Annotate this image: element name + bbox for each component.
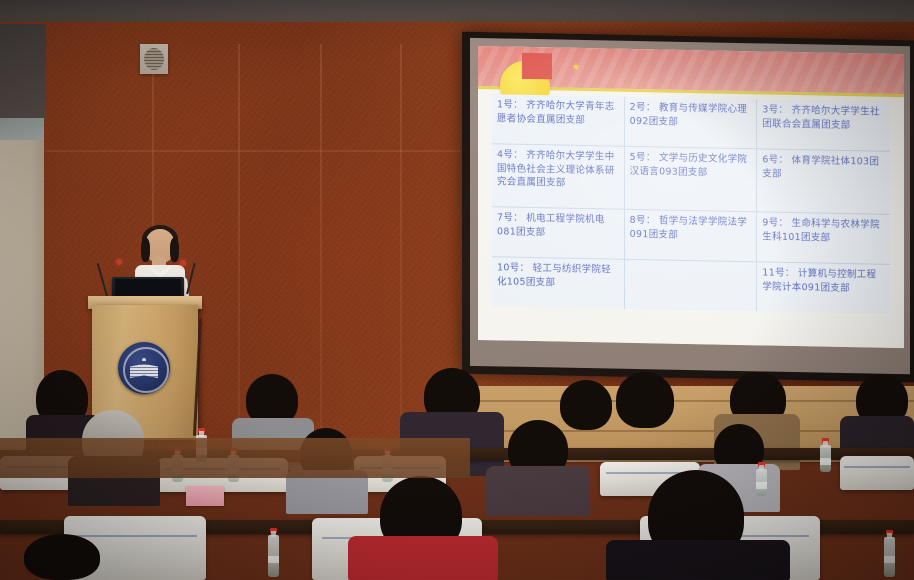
audience-torso	[486, 466, 590, 516]
wall-panel-seam	[320, 44, 322, 464]
table-cell: 1号： 齐齐哈尔大学青年志愿者协会直属团支部	[492, 94, 625, 146]
audience-chair	[840, 456, 914, 490]
table-cell: 9号： 生命科学与农林学院生科101团支部	[757, 213, 890, 265]
wall-panel-seam	[238, 44, 240, 464]
table-cell: 4号： 齐齐哈尔大学学生中国特色社会主义理论体系研究会直属团支部	[492, 144, 625, 210]
table-cell: 5号： 文学与历史文化学院汉语言093团支部	[625, 147, 758, 213]
table-cell: 7号： 机电工程学院机电081团支部	[492, 208, 625, 260]
speaker-grill-icon	[144, 48, 164, 70]
bottle-label	[884, 556, 895, 563]
screen-border: 共青团 1号： 齐齐哈尔大学青年志愿者协会直属团支部 2号： 教育与传媒学院心理…	[470, 38, 910, 374]
audience-head	[616, 372, 674, 428]
badge-flag-icon	[522, 53, 552, 80]
left-upper-dark-panel	[0, 24, 46, 120]
table-cell: 10号： 轻工与纺织学院轻化105团支部	[492, 257, 625, 308]
conference-hall-photo: 共青团 1号： 齐齐哈尔大学青年志愿者协会直属团支部 2号： 教育与传媒学院心理…	[0, 0, 914, 580]
presentation-slide: 共青团 1号： 齐齐哈尔大学青年志愿者协会直属团支部 2号： 教育与传媒学院心理…	[478, 46, 904, 348]
microphone-left-head	[116, 259, 122, 265]
emblem-rays-icon	[138, 351, 150, 361]
table-cell: 8号： 哲学与法学学院法学091团支部	[625, 210, 758, 262]
water-bottle	[884, 530, 895, 580]
audience-head	[24, 534, 100, 580]
audience-torso	[606, 540, 790, 580]
table-cell: 6号： 体育学院社体103团支部	[757, 149, 890, 215]
wall-panel-seam	[400, 44, 402, 464]
water-bottle	[820, 438, 831, 472]
paneling-seam	[470, 400, 914, 402]
audience-torso	[348, 536, 498, 580]
screen-surface: 共青团 1号： 齐齐哈尔大学青年志愿者协会直属团支部 2号： 教育与传媒学院心理…	[478, 46, 904, 348]
bottle-label	[820, 458, 831, 465]
microphone-right-head	[180, 260, 186, 266]
table-name-card	[186, 486, 224, 506]
table-cell-empty	[625, 260, 758, 311]
presenter-hair-right	[170, 238, 179, 262]
wall-panel-band	[40, 150, 460, 152]
bottle-label	[756, 482, 767, 489]
bottle-label	[268, 556, 279, 563]
university-emblem	[118, 342, 170, 394]
projection-screen: 共青团 1号： 齐齐哈尔大学青年志愿者协会直属团支部 2号： 教育与传媒学院心理…	[462, 32, 914, 383]
wall-mounted-speaker	[140, 44, 168, 74]
audience-head	[560, 380, 612, 430]
slide-content-table: 1号： 齐齐哈尔大学青年志愿者协会直属团支部 2号： 教育与传媒学院心理092团…	[492, 94, 890, 314]
presenter-hair-left	[141, 238, 150, 262]
table-cell: 2号： 教育与传媒学院心理092团支部	[625, 97, 758, 149]
table-cell: 11号： 计算机与控制工程学院计本091团支部	[757, 263, 890, 314]
stage-floor	[0, 438, 470, 478]
table-cell: 3号： 齐齐哈尔大学学生社团联合会直属团支部	[757, 99, 890, 151]
water-bottle	[268, 528, 279, 580]
water-bottle	[756, 462, 767, 496]
